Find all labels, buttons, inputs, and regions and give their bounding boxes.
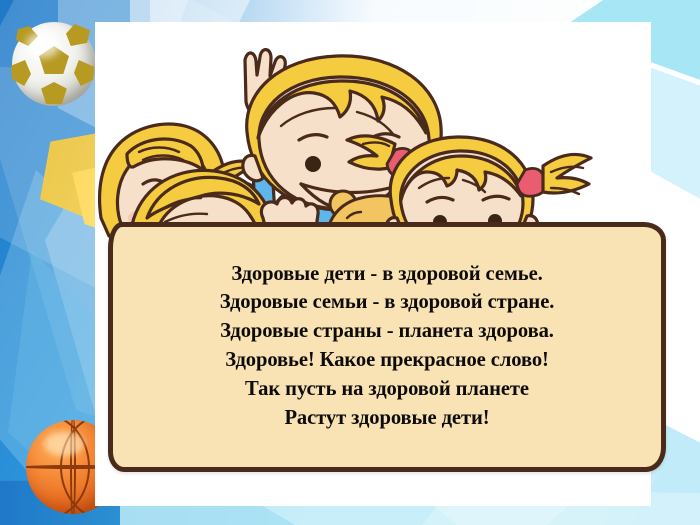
soccer-patch: [40, 82, 68, 104]
quote-line: Здоровье! Какое прекрасное слово!: [225, 346, 549, 375]
basketball-highlight: [44, 432, 84, 456]
slide-canvas: .sk{fill:#f7e0c9;stroke:#4a2a1a;stroke-w…: [0, 0, 700, 525]
quote-banner: Здоровые дети - в здоровой семье. Здоров…: [108, 222, 666, 472]
soccer-patch: [74, 60, 94, 86]
quote-line: Здоровые семьи - в здоровой стране.: [220, 288, 555, 317]
quote-line: Здоровые дети - в здоровой семье.: [231, 260, 542, 289]
quote-line: Так пусть на здоровой планете: [245, 375, 529, 404]
soccer-highlight: [26, 32, 60, 58]
quote-text-block: Здоровые дети - в здоровой семье. Здоров…: [113, 227, 661, 467]
quote-line: Растут здоровые дети!: [284, 404, 489, 433]
quote-line: Здоровые страны - планета здорова.: [220, 317, 554, 346]
soccer-ball-icon: [12, 22, 96, 106]
